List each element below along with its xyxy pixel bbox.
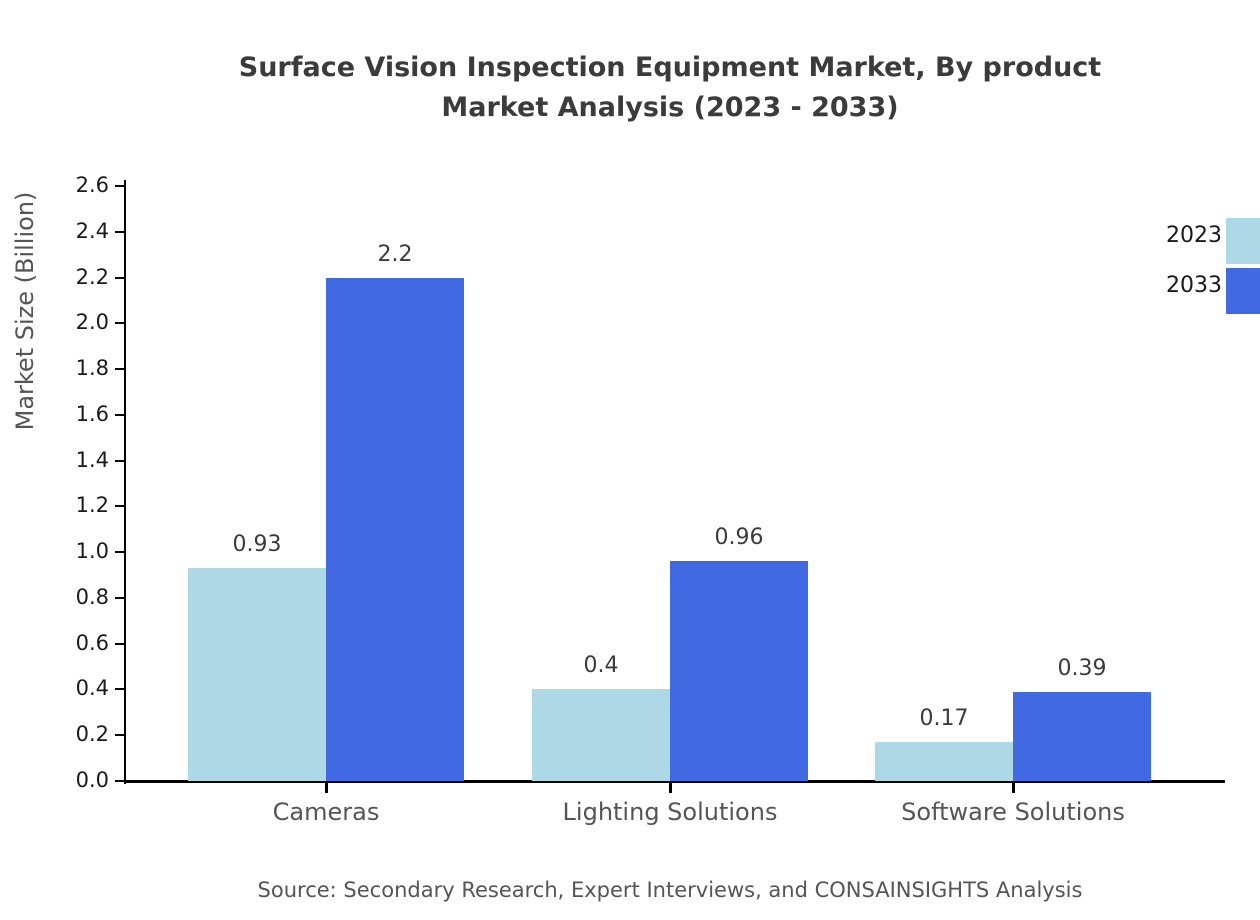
y-tick-label: 0.4 bbox=[76, 676, 109, 700]
chart-title: Surface Vision Inspection Equipment Mark… bbox=[0, 48, 1260, 128]
y-tick-label: 0.2 bbox=[76, 722, 109, 746]
y-tick-mark bbox=[115, 643, 124, 645]
bar-software-solutions-2023[interactable] bbox=[875, 742, 1013, 781]
bar-value-label-cameras-2033: 2.2 bbox=[378, 242, 413, 267]
y-tick-label: 1.0 bbox=[76, 539, 109, 563]
y-axis-title: Market Size (Billion) bbox=[11, 81, 39, 541]
y-tick-label: 2.6 bbox=[76, 173, 109, 197]
bar-value-label-lighting-solutions-2033: 0.96 bbox=[715, 525, 764, 550]
x-tick-mark bbox=[669, 782, 672, 793]
chart-title-line-2: Market Analysis (2023 - 2033) bbox=[0, 88, 1260, 128]
y-tick-label: 0.0 bbox=[76, 768, 109, 792]
y-tick-mark bbox=[115, 414, 124, 416]
x-tick-label-lighting-solutions: Lighting Solutions bbox=[563, 798, 778, 826]
y-tick-mark bbox=[115, 277, 124, 279]
bar-lighting-solutions-2023[interactable] bbox=[532, 689, 670, 781]
y-tick-mark bbox=[115, 322, 124, 324]
x-tick-mark bbox=[1012, 782, 1015, 793]
y-tick-label: 2.0 bbox=[76, 310, 109, 334]
legend-label-2023: 2023 bbox=[1166, 223, 1222, 248]
y-tick-label: 2.4 bbox=[76, 219, 109, 243]
y-tick-mark bbox=[115, 368, 124, 370]
legend-swatch-2033 bbox=[1226, 268, 1260, 314]
legend-label-2033: 2033 bbox=[1166, 273, 1222, 298]
bar-value-label-software-solutions-2033: 0.39 bbox=[1058, 656, 1107, 681]
bar-value-label-lighting-solutions-2023: 0.4 bbox=[584, 653, 619, 678]
legend-item-2033[interactable]: 2033 bbox=[1130, 268, 1260, 318]
y-tick-label: 0.8 bbox=[76, 585, 109, 609]
y-tick-mark bbox=[115, 551, 124, 553]
y-tick-label: 0.6 bbox=[76, 631, 109, 655]
bar-cameras-2023[interactable] bbox=[188, 568, 326, 781]
y-tick-mark bbox=[115, 734, 124, 736]
y-tick-mark bbox=[115, 688, 124, 690]
y-tick-mark bbox=[115, 231, 124, 233]
y-tick-label: 1.4 bbox=[76, 448, 109, 472]
chart-legend: 2023 2033 bbox=[1130, 218, 1260, 318]
bar-value-label-cameras-2023: 0.93 bbox=[233, 532, 282, 557]
legend-swatch-2023 bbox=[1226, 218, 1260, 264]
chart-title-line-1: Surface Vision Inspection Equipment Mark… bbox=[0, 48, 1260, 88]
source-note: Source: Secondary Research, Expert Inter… bbox=[0, 878, 1260, 902]
legend-item-2023[interactable]: 2023 bbox=[1130, 218, 1260, 268]
y-tick-mark bbox=[115, 185, 124, 187]
y-tick-label: 2.2 bbox=[76, 265, 109, 289]
x-tick-mark bbox=[325, 782, 328, 793]
plot-area: 0.932.20.40.960.170.39 bbox=[124, 186, 1225, 781]
y-tick-label: 1.8 bbox=[76, 356, 109, 380]
y-tick-label: 1.6 bbox=[76, 402, 109, 426]
y-tick-mark bbox=[115, 460, 124, 462]
x-tick-label-software-solutions: Software Solutions bbox=[901, 798, 1125, 826]
chart-figure: Surface Vision Inspection Equipment Mark… bbox=[0, 0, 1260, 920]
y-tick-mark bbox=[115, 780, 124, 782]
bar-software-solutions-2033[interactable] bbox=[1013, 692, 1151, 781]
y-tick-mark bbox=[115, 505, 124, 507]
x-tick-label-cameras: Cameras bbox=[273, 798, 380, 826]
bar-lighting-solutions-2033[interactable] bbox=[670, 561, 808, 781]
bar-cameras-2033[interactable] bbox=[326, 278, 464, 781]
bar-value-label-software-solutions-2023: 0.17 bbox=[920, 706, 969, 731]
y-tick-label: 1.2 bbox=[76, 493, 109, 517]
y-tick-mark bbox=[115, 597, 124, 599]
